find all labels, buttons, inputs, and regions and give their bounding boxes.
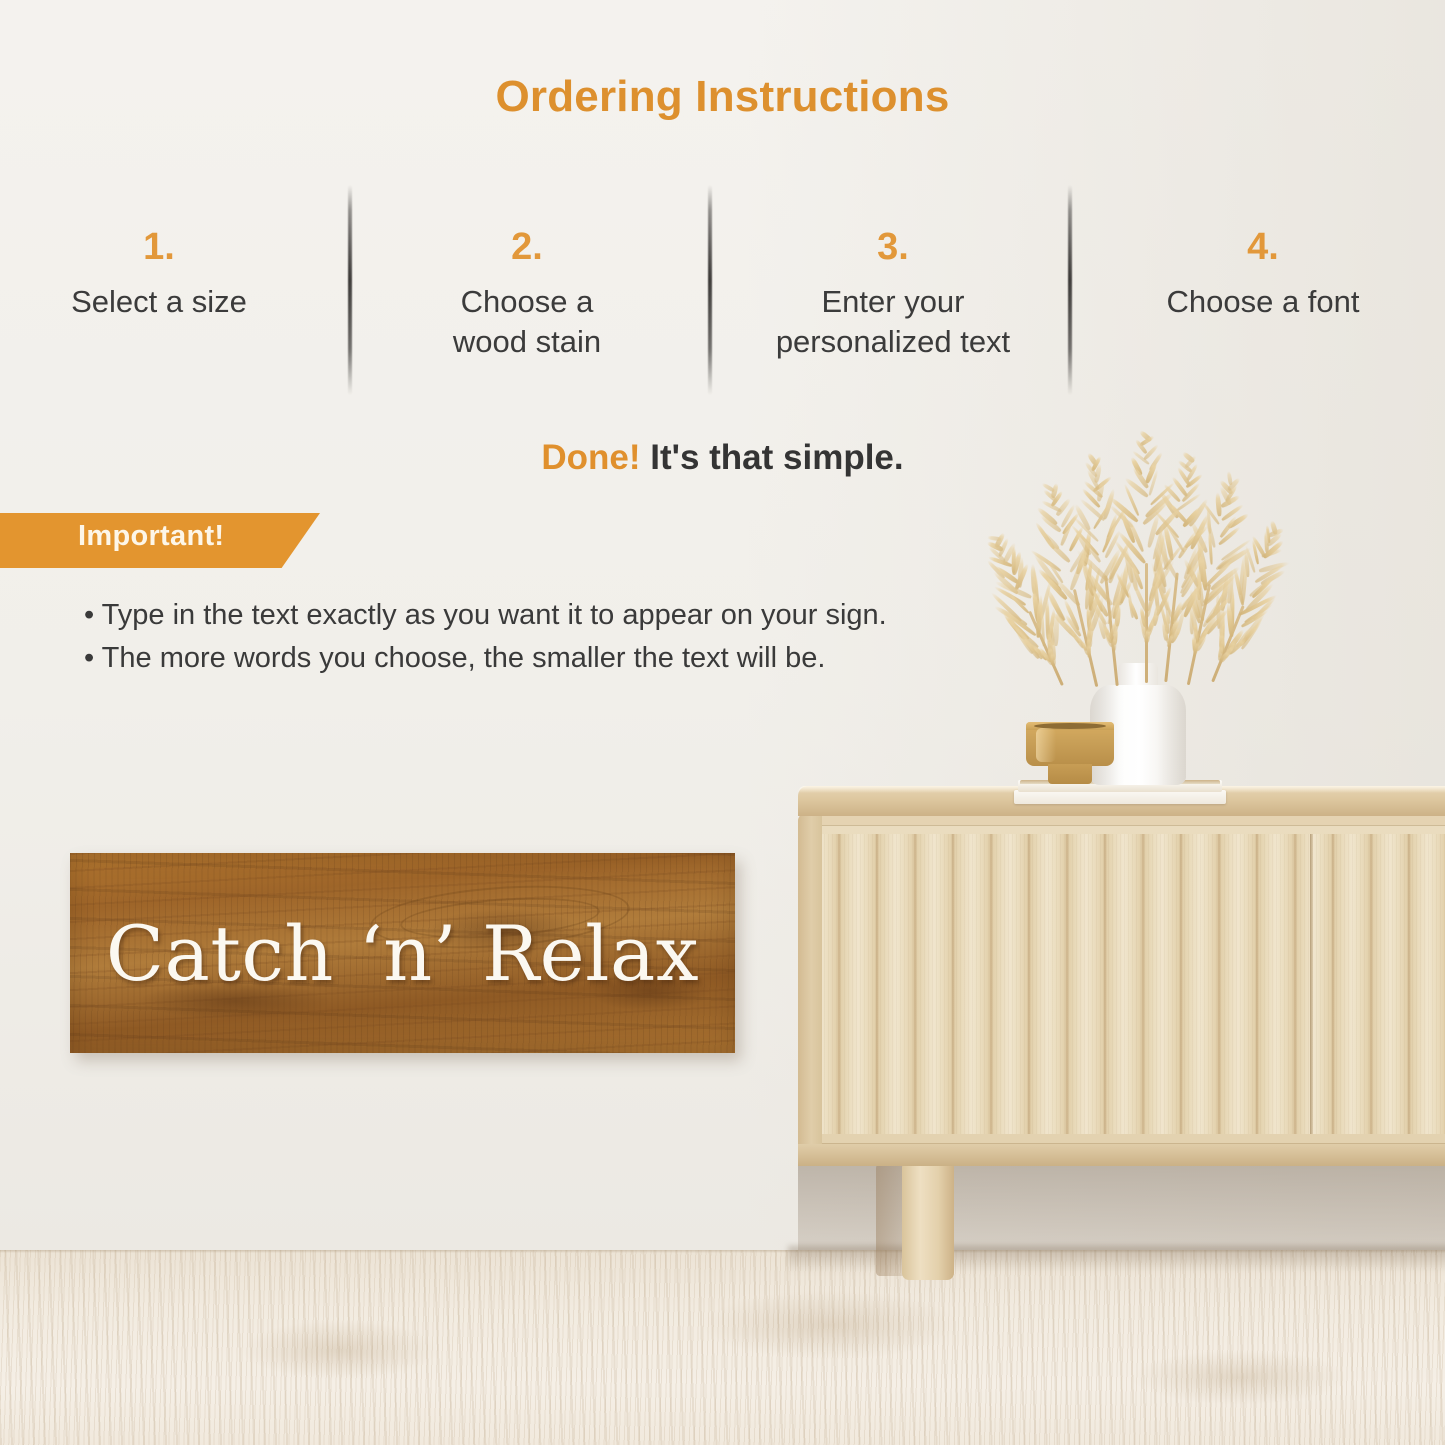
floor-grain-blotch <box>700 1290 960 1360</box>
done-highlight: Done! <box>541 438 640 477</box>
page-title: Ordering Instructions <box>0 72 1445 122</box>
personalized-wood-sign: Catch ‘n’ Relax <box>70 853 735 1053</box>
step-item-2: 2. Choose awood stain <box>392 228 662 361</box>
floor-grain-blotch <box>240 1320 440 1380</box>
step-number: 2. <box>392 228 662 266</box>
step-label: Choose awood stain <box>392 282 662 361</box>
step-number: 4. <box>1118 228 1408 266</box>
sideboard-door-seam <box>1310 834 1313 1134</box>
step-label: Enter yourpersonalized text <box>748 282 1038 361</box>
step-item-3: 3. Enter yourpersonalized text <box>748 228 1038 361</box>
sideboard-side-panel <box>798 813 822 1158</box>
step-item-4: 4. Choose a font <box>1118 228 1408 322</box>
step-number: 1. <box>28 228 290 266</box>
step-divider-1 <box>348 185 352 395</box>
step-label: Select a size <box>28 282 290 322</box>
step-label: Choose a font <box>1118 282 1408 322</box>
list-item: • The more words you choose, the smaller… <box>84 637 1094 680</box>
bowl-highlight <box>1036 728 1056 762</box>
sideboard-body <box>798 813 1445 1158</box>
pampas-plume <box>1120 425 1172 675</box>
step-number: 3. <box>748 228 1038 266</box>
list-item: • Type in the text exactly as you want i… <box>84 594 1094 637</box>
sideboard-leg <box>902 1162 954 1280</box>
scene-canvas: Catch ‘n’ Relax Ordering Instructions 1.… <box>0 0 1445 1445</box>
brass-bowl <box>1026 722 1114 784</box>
bowl-foot <box>1048 764 1092 784</box>
steps-row: 1. Select a size 2. Choose awood stain 3… <box>0 228 1445 378</box>
book-lower <box>1014 790 1226 804</box>
step-item-1: 1. Select a size <box>28 228 290 322</box>
done-rest: It's that simple. <box>650 438 903 477</box>
sideboard-plinth <box>798 1144 1445 1166</box>
floor <box>0 1250 1445 1445</box>
floor-grain-blotch <box>1130 1350 1350 1405</box>
step-divider-3 <box>1068 185 1072 395</box>
step-divider-2 <box>708 185 712 395</box>
important-ribbon-label: Important! <box>78 520 298 553</box>
important-bullet-list: • Type in the text exactly as you want i… <box>84 594 1094 679</box>
fluted-sideboard <box>798 786 1445 1168</box>
sideboard-wood-grain <box>820 834 1445 1134</box>
sign-text: Catch ‘n’ Relax <box>70 853 735 1053</box>
